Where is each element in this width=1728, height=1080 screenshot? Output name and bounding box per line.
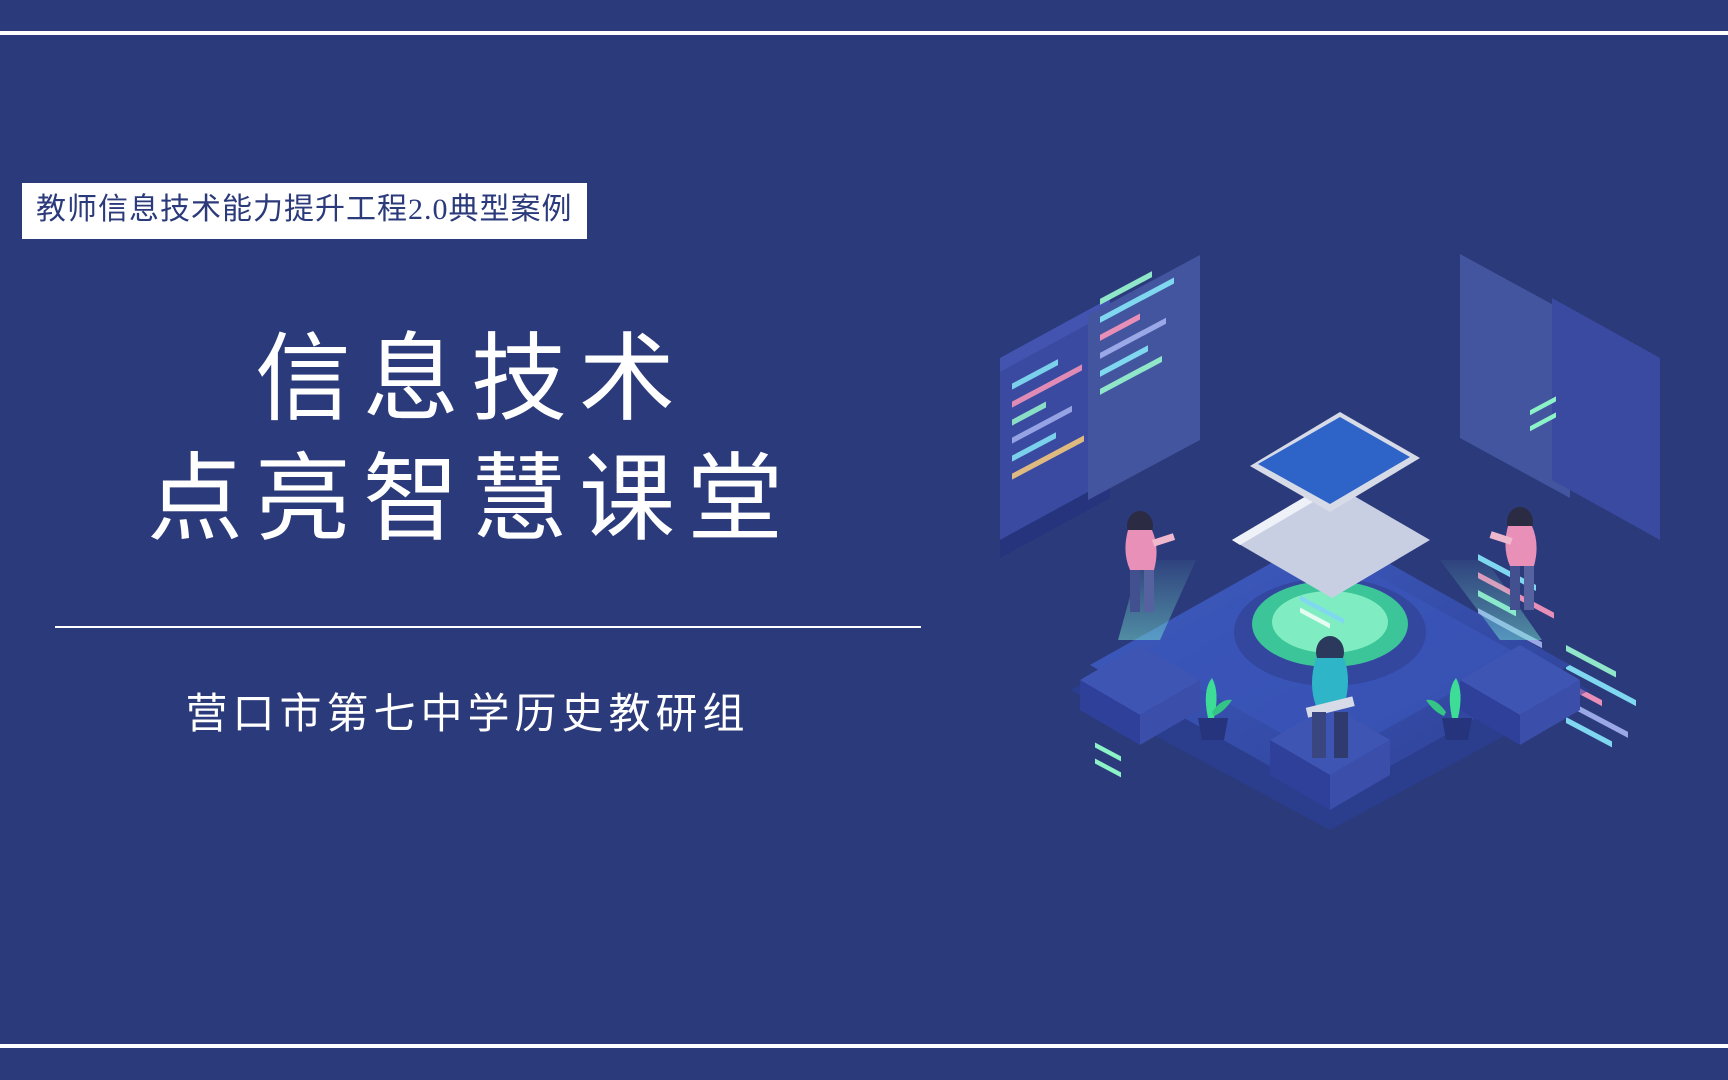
eyebrow-badge: 教师信息技术能力提升工程2.0典型案例 <box>22 183 587 239</box>
bottom-divider-rule <box>0 1044 1728 1048</box>
subtitle-text: 营口市第七中学历史教研组 <box>0 680 930 741</box>
code-screen-panel-left-inner <box>1088 255 1200 500</box>
title-line-1: 信息技术 <box>0 320 930 440</box>
slide-root: 教师信息技术能力提升工程2.0典型案例 信息技术 点亮智慧课堂 营口市第七中学历… <box>0 0 1728 1080</box>
page-title: 信息技术 点亮智慧课堂 <box>0 320 930 560</box>
isometric-smart-classroom-illustration <box>1000 240 1660 880</box>
title-line-2: 点亮智慧课堂 <box>0 440 930 560</box>
top-divider-rule <box>0 31 1728 35</box>
title-underline-rule <box>55 626 921 628</box>
